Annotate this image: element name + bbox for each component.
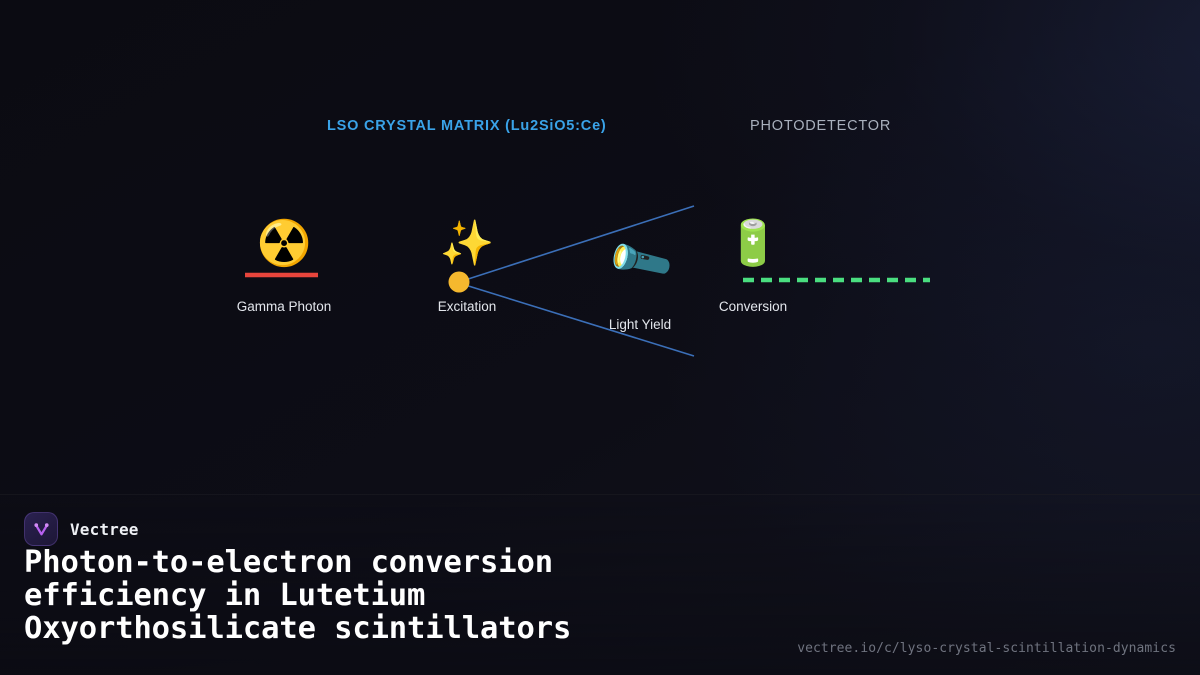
page-title: Photon-to-electron conversion efficiency… xyxy=(24,547,714,645)
node-excitation: ✨ Excitation xyxy=(417,222,517,266)
battery-icon: 🔋 xyxy=(703,222,803,266)
sparkles-icon: ✨ xyxy=(417,222,517,266)
vectree-glyph xyxy=(31,519,52,540)
radioactive-icon: ☢️ xyxy=(234,222,334,266)
node-label-gamma-photon: Gamma Photon xyxy=(217,299,351,314)
emission-origin-dot xyxy=(449,272,470,293)
node-light-yield: 🔦 Light Yield xyxy=(590,240,690,284)
footer-bar: Vectree Photon-to-electron conversion ef… xyxy=(0,494,1200,675)
node-gamma-photon: ☢️ Gamma Photon xyxy=(234,222,334,266)
vectree-logo-icon xyxy=(24,512,58,546)
node-label-conversion: Conversion xyxy=(682,299,824,314)
slide-canvas: LSO CRYSTAL MATRIX (Lu2SiO5:Ce) PHOTODET… xyxy=(0,0,1200,675)
node-label-excitation: Excitation xyxy=(395,299,539,314)
brand-block: Vectree xyxy=(24,512,139,546)
node-label-light-yield: Light Yield xyxy=(571,317,709,332)
node-conversion: 🔋 Conversion xyxy=(703,222,803,266)
brand-name: Vectree xyxy=(70,520,139,539)
source-url: vectree.io/c/lyso-crystal-scintillation-… xyxy=(797,641,1176,656)
